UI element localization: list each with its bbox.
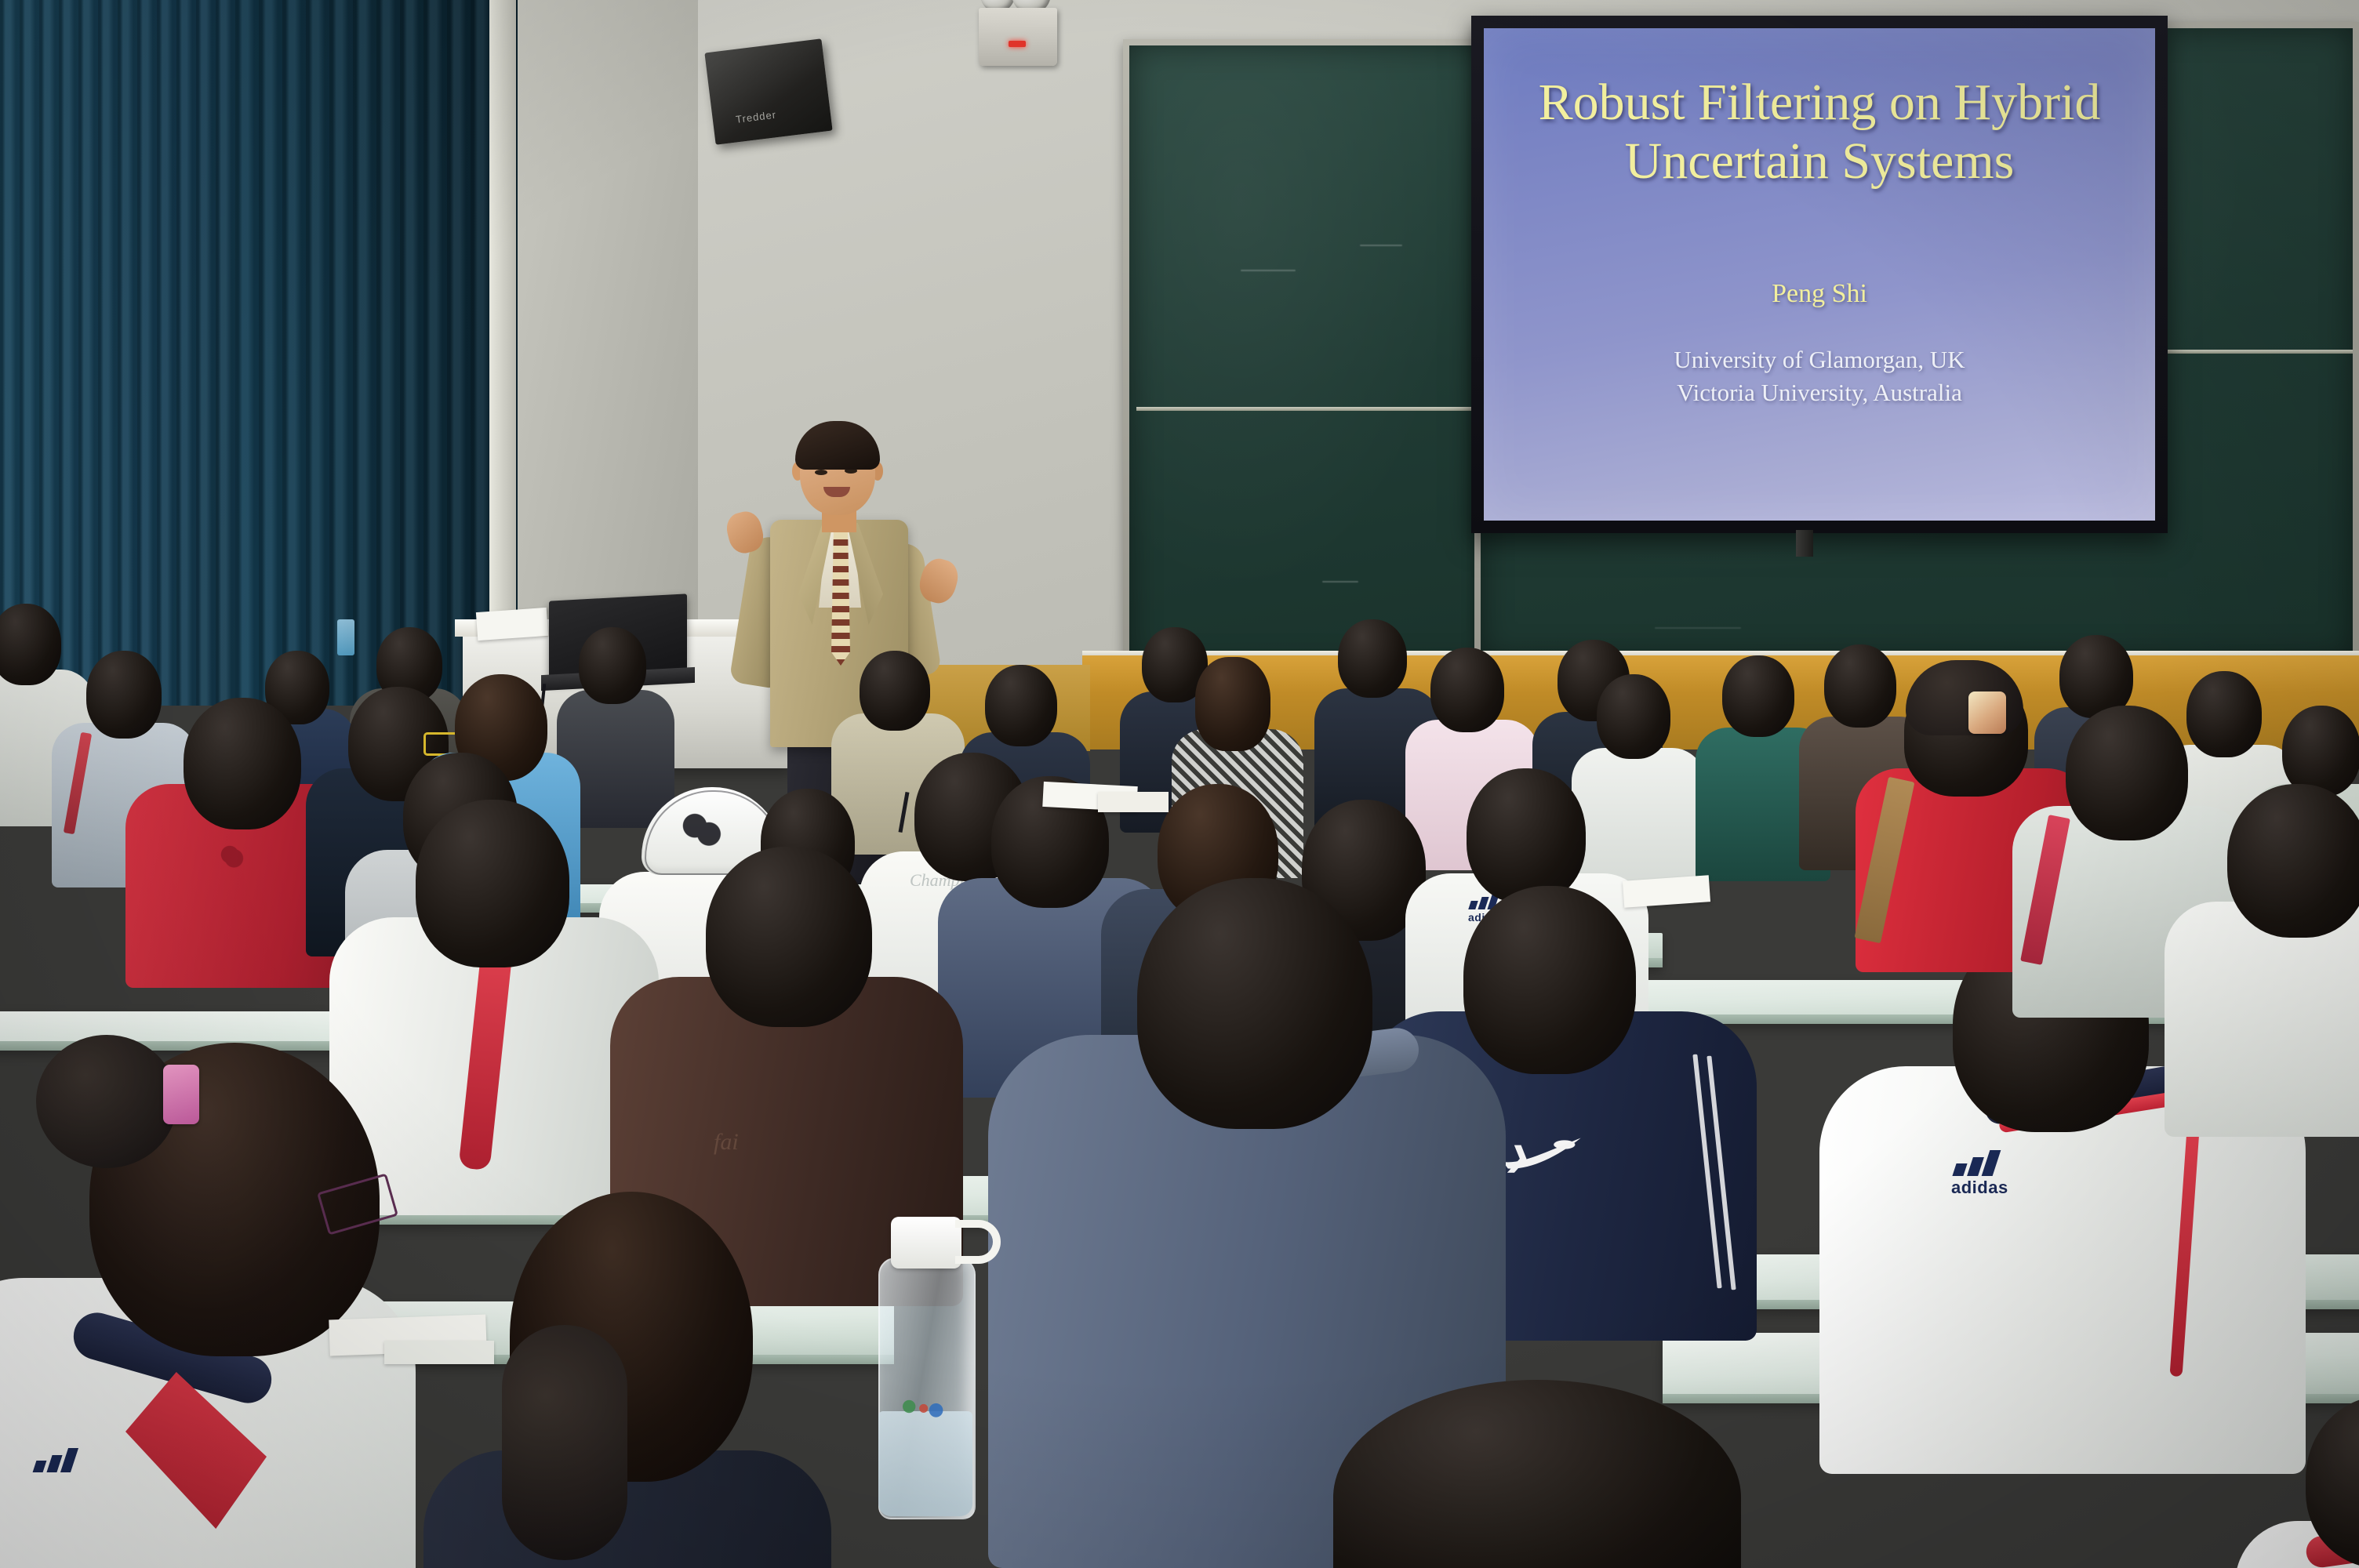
kappa-logo-icon: [676, 811, 723, 848]
water-bottle-on-table: [337, 619, 354, 655]
slide-affiliation: University of Glamorgan, UK Victoria Uni…: [1484, 343, 2155, 409]
hair-clip: [1968, 691, 2006, 734]
adidas-logo-icon: [1954, 1149, 2011, 1176]
wall-corner-trim: [489, 0, 516, 706]
notebook-on-desk: [384, 1341, 494, 1364]
nike-swoosh-shape: [1499, 1135, 1584, 1171]
window-curtain-side: [235, 0, 518, 706]
slide-title: Robust Filtering on Hybrid Uncertain Sys…: [1510, 73, 2128, 192]
pink-hair-clip: [163, 1065, 199, 1124]
screen-mount-bracket: [1796, 530, 1813, 557]
slide-title-line-2: Uncertain Systems: [1510, 132, 2128, 191]
emergency-light-led: [1009, 41, 1026, 47]
paper-on-table: [476, 608, 548, 641]
slide-author: Peng Shi: [1484, 279, 2155, 309]
adidas-logo-icon: [35, 1447, 86, 1472]
lecture-hall-photo: Tredder Robust Filtering on Hybrid Uncer…: [0, 0, 2359, 1568]
emergency-light-icon: [979, 8, 1057, 66]
projection-screen: Robust Filtering on Hybrid Uncertain Sys…: [1471, 16, 2168, 533]
notebook-on-desk: [1098, 792, 1169, 812]
adidas-wordmark: adidas: [1951, 1178, 2008, 1198]
notebook-on-desk: [1623, 875, 1710, 908]
wall-speaker-icon: [704, 38, 832, 144]
slide-affiliation-line-2: Victoria University, Australia: [1484, 376, 2155, 409]
blackboard-left: [1123, 39, 1507, 674]
projected-slide: Robust Filtering on Hybrid Uncertain Sys…: [1484, 28, 2155, 521]
slide-title-line-1: Robust Filtering on Hybrid: [1510, 73, 2128, 132]
presenter-necktie: [831, 531, 850, 666]
slide-affiliation-line-1: University of Glamorgan, UK: [1484, 343, 2155, 376]
